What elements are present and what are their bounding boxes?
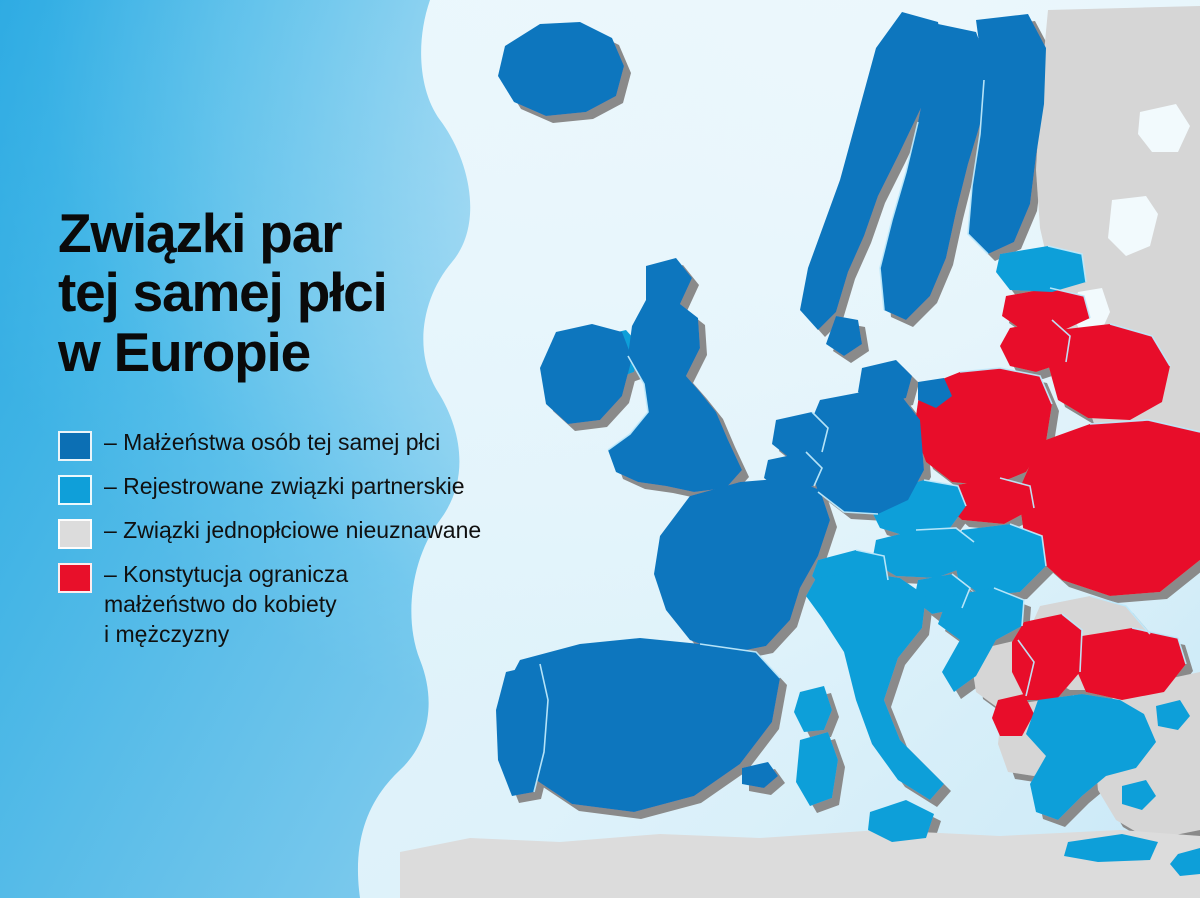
legend-label-partnership: – Rejestrowane związki partnerskie (104, 472, 465, 502)
legend-item-partnership[interactable]: – Rejestrowane związki partnerskie (58, 472, 578, 505)
legend-label-constitution: – Konstytucja ogranicza małżeństwo do ko… (104, 560, 348, 650)
legend-label-marriage: – Małżeństwa osób tej samej płci (104, 428, 440, 458)
infographic-root: Związki par tej samej płci w Europie – M… (0, 0, 1200, 898)
legend-swatch-marriage (58, 431, 92, 461)
page-title: Związki par tej samej płci w Europie (58, 204, 578, 382)
legend-item-unrecognised[interactable]: – Związki jednopłciowe nieuznawane (58, 516, 578, 549)
legend-item-constitution[interactable]: – Konstytucja ogranicza małżeństwo do ko… (58, 560, 578, 650)
region-estonia (996, 246, 1086, 292)
region-germany (808, 392, 924, 514)
legend-swatch-unrecognised (58, 519, 92, 549)
legend: – Małżeństwa osób tej samej płci – Rejes… (58, 428, 578, 650)
text-content: Związki par tej samej płci w Europie – M… (58, 204, 578, 650)
legend-label-unrecognised: – Związki jednopłciowe nieuznawane (104, 516, 481, 546)
legend-swatch-constitution (58, 563, 92, 593)
legend-item-marriage[interactable]: – Małżeństwa osób tej samej płci (58, 428, 578, 461)
legend-swatch-partnership (58, 475, 92, 505)
